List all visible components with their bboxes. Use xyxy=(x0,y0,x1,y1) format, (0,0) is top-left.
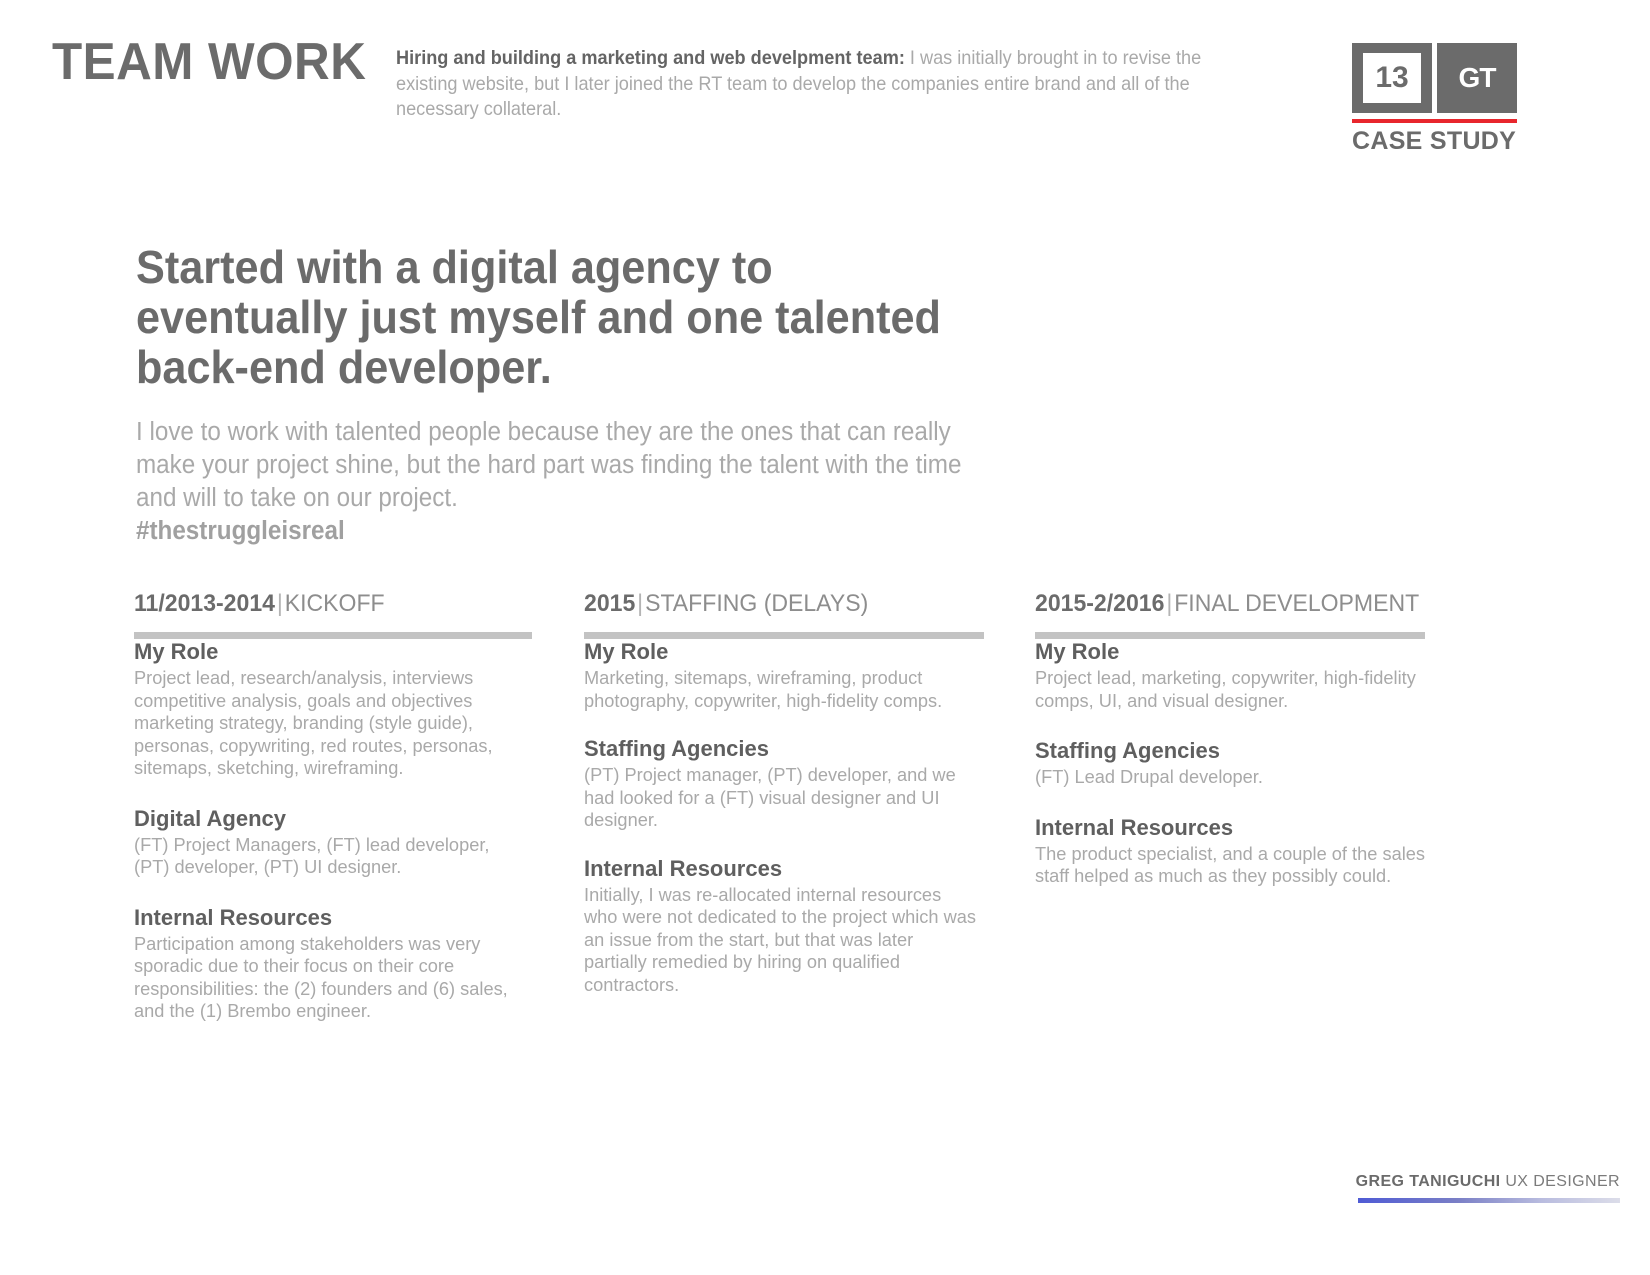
hero-paragraph-text: I love to work with talented people beca… xyxy=(136,418,961,512)
hero-paragraph: I love to work with talented people beca… xyxy=(136,416,963,548)
slide-header: TEAM WORK Hiring and building a marketin… xyxy=(0,0,1650,200)
section-body: Project lead, marketing, copywriter, hig… xyxy=(1035,667,1439,712)
section-body: (PT) Project manager, (PT) developer, an… xyxy=(584,764,978,832)
logo-initials-box: GT xyxy=(1437,43,1517,113)
section-heading: Staffing Agencies xyxy=(1035,738,1445,764)
column-separator: | xyxy=(635,590,645,617)
timeline-columns: 11/2013-2014|KICKOFF My Role Project lea… xyxy=(0,590,1650,1110)
section-body: (FT) Project Managers, (FT) lead develop… xyxy=(134,834,528,879)
section-body: (FT) Lead Drupal developer. xyxy=(1035,766,1439,789)
section-body: Initially, I was re-allocated internal r… xyxy=(584,884,978,997)
logo-initials: GT xyxy=(1459,64,1496,92)
column-header: 2015-2/2016|FINAL DEVELOPMENT xyxy=(1035,590,1429,618)
logo-number-box: 13 xyxy=(1352,43,1432,113)
timeline-column-final-development: 2015-2/2016|FINAL DEVELOPMENT My Role Pr… xyxy=(1035,590,1445,888)
footer-gradient-bar xyxy=(1358,1198,1620,1203)
logo-caption: CASE STUDY xyxy=(1352,129,1524,154)
hero-hashtag: #thestruggleisreal xyxy=(136,517,345,545)
timeline-column-kickoff: 11/2013-2014|KICKOFF My Role Project lea… xyxy=(134,590,534,1023)
section-body: Participation among stakeholders was ver… xyxy=(134,933,528,1023)
slide-canvas: TEAM WORK Hiring and building a marketin… xyxy=(0,0,1650,1275)
section-internal-resources: Internal Resources The product specialis… xyxy=(1035,815,1445,888)
timeline-column-staffing: 2015|STAFFING (DELAYS) My Role Marketing… xyxy=(584,590,984,996)
section-internal-resources: Internal Resources Initially, I was re-a… xyxy=(584,856,984,997)
header-description: Hiring and building a marketing and web … xyxy=(396,46,1238,123)
section-body: Marketing, sitemaps, wireframing, produc… xyxy=(584,667,978,712)
section-heading: My Role xyxy=(584,639,984,665)
section-heading: Internal Resources xyxy=(1035,815,1445,841)
footer-name: GREG TANIGUCHI xyxy=(1356,1173,1501,1190)
section-heading: My Role xyxy=(1035,639,1445,665)
section-heading: Staffing Agencies xyxy=(584,736,984,762)
column-header: 11/2013-2014|KICKOFF xyxy=(134,590,518,618)
section-body: The product specialist, and a couple of … xyxy=(1035,843,1439,888)
section-my-role: My Role Project lead, research/analysis,… xyxy=(134,639,534,780)
column-divider xyxy=(584,632,984,639)
header-description-lead: Hiring and building a marketing and web … xyxy=(396,47,905,69)
column-separator: | xyxy=(275,590,285,617)
logo-boxes: 13 GT xyxy=(1352,43,1524,113)
column-date: 2015 xyxy=(584,590,635,617)
hero-heading: Started with a digital agency to eventua… xyxy=(136,242,982,392)
slide-footer: GREG TANIGUCHI UX DESIGNER xyxy=(1356,1173,1620,1203)
case-study-logo: 13 GT CASE STUDY xyxy=(1352,43,1524,154)
section-heading: My Role xyxy=(134,639,534,665)
section-digital-agency: Digital Agency (FT) Project Managers, (F… xyxy=(134,806,534,879)
section-staffing-agencies: Staffing Agencies (PT) Project manager, … xyxy=(584,736,984,832)
footer-credit: GREG TANIGUCHI UX DESIGNER xyxy=(1356,1173,1620,1191)
column-header: 2015|STAFFING (DELAYS) xyxy=(584,590,968,618)
page-title: TEAM WORK xyxy=(52,36,366,88)
section-heading: Digital Agency xyxy=(134,806,534,832)
column-divider xyxy=(1035,632,1425,639)
column-phase: STAFFING (DELAYS) xyxy=(645,590,868,617)
column-divider xyxy=(134,632,532,639)
logo-number: 13 xyxy=(1363,53,1421,103)
column-date: 11/2013-2014 xyxy=(134,590,275,617)
section-heading: Internal Resources xyxy=(134,905,534,931)
section-my-role: My Role Project lead, marketing, copywri… xyxy=(1035,639,1445,712)
section-my-role: My Role Marketing, sitemaps, wireframing… xyxy=(584,639,984,712)
logo-red-rule xyxy=(1352,119,1517,123)
column-date: 2015-2/2016 xyxy=(1035,590,1164,617)
section-body: Project lead, research/analysis, intervi… xyxy=(134,667,528,780)
column-phase: KICKOFF xyxy=(285,590,385,617)
column-phase: FINAL DEVELOPMENT xyxy=(1174,590,1419,617)
section-internal-resources: Internal Resources Participation among s… xyxy=(134,905,534,1023)
section-staffing-agencies: Staffing Agencies (FT) Lead Drupal devel… xyxy=(1035,738,1445,789)
section-heading: Internal Resources xyxy=(584,856,984,882)
footer-role: UX DESIGNER xyxy=(1501,1173,1621,1190)
column-separator: | xyxy=(1164,590,1174,617)
